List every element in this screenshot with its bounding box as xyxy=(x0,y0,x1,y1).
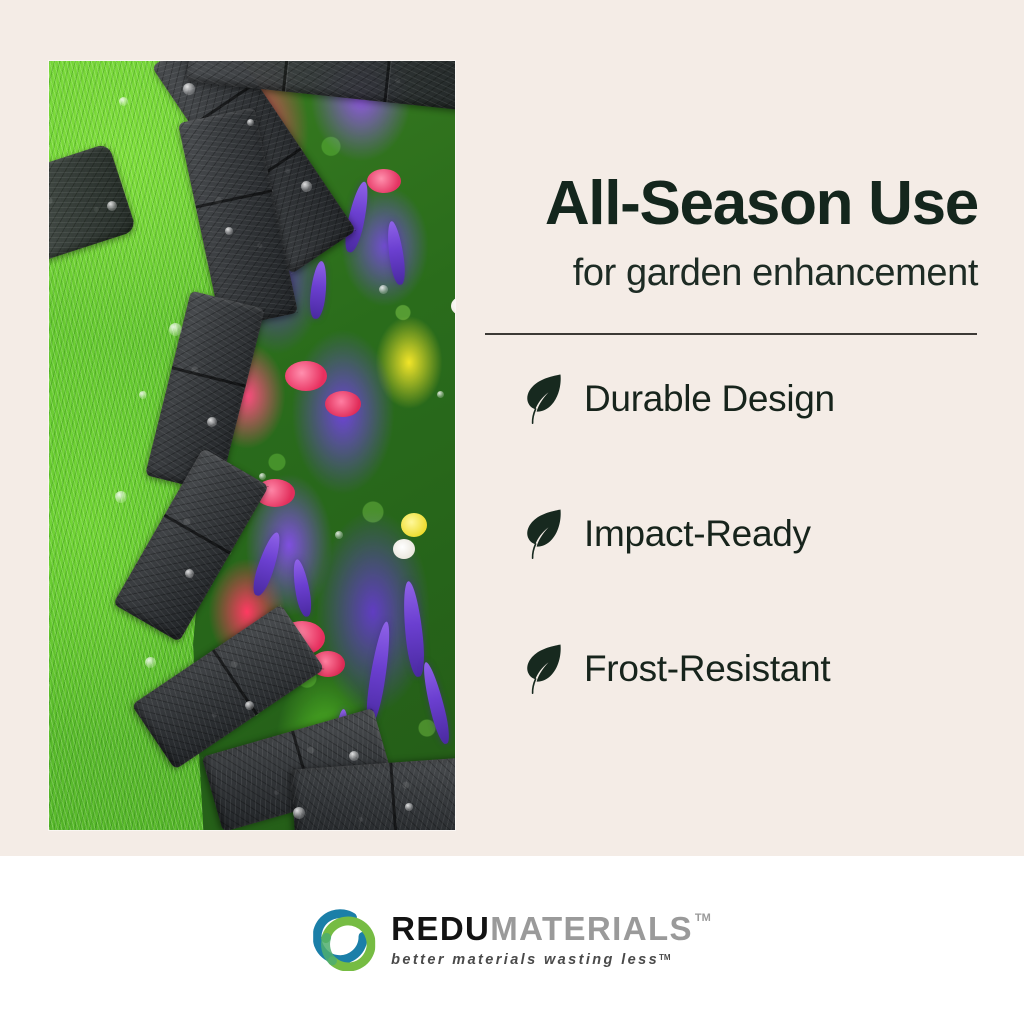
leaf-icon xyxy=(522,373,566,425)
trademark-symbol: TM xyxy=(695,913,711,924)
divider xyxy=(485,333,977,335)
brand-logo: REDU MATERIALS TM better materials wasti… xyxy=(313,909,711,971)
list-item: Durable Design xyxy=(522,368,978,430)
leaf-icon xyxy=(522,508,566,560)
hero-panel: All-Season Use for garden enhancement Du… xyxy=(0,0,1024,856)
leaf-icon xyxy=(522,643,566,695)
content-column: All-Season Use for garden enhancement Du… xyxy=(484,0,984,856)
tagline-trademark-symbol: TM xyxy=(659,953,671,962)
redu-swirl-icon xyxy=(313,909,375,971)
list-item: Frost-Resistant xyxy=(522,638,978,700)
page-title: All-Season Use xyxy=(484,172,978,235)
feature-label: Impact-Ready xyxy=(584,513,811,555)
brand-name-primary: REDU xyxy=(391,912,490,945)
footer: REDU MATERIALS TM better materials wasti… xyxy=(0,856,1024,1024)
product-marketing-graphic: All-Season Use for garden enhancement Du… xyxy=(0,0,1024,1024)
brand-tagline-text: better materials wasting less xyxy=(391,952,659,968)
feature-list: Durable Design Impact-Ready xyxy=(522,368,978,700)
product-photo xyxy=(49,61,455,830)
brand-wordmark: REDU MATERIALS TM better materials wasti… xyxy=(391,912,711,968)
page-subtitle: for garden enhancement xyxy=(484,252,978,295)
brand-name: REDU MATERIALS TM xyxy=(391,912,711,945)
brand-name-secondary: MATERIALS xyxy=(490,912,693,945)
photo-canvas xyxy=(49,61,455,830)
list-item: Impact-Ready xyxy=(522,503,978,565)
feature-label: Durable Design xyxy=(584,378,835,420)
feature-label: Frost-Resistant xyxy=(584,648,830,690)
brand-tagline: better materials wasting less TM xyxy=(391,952,711,968)
